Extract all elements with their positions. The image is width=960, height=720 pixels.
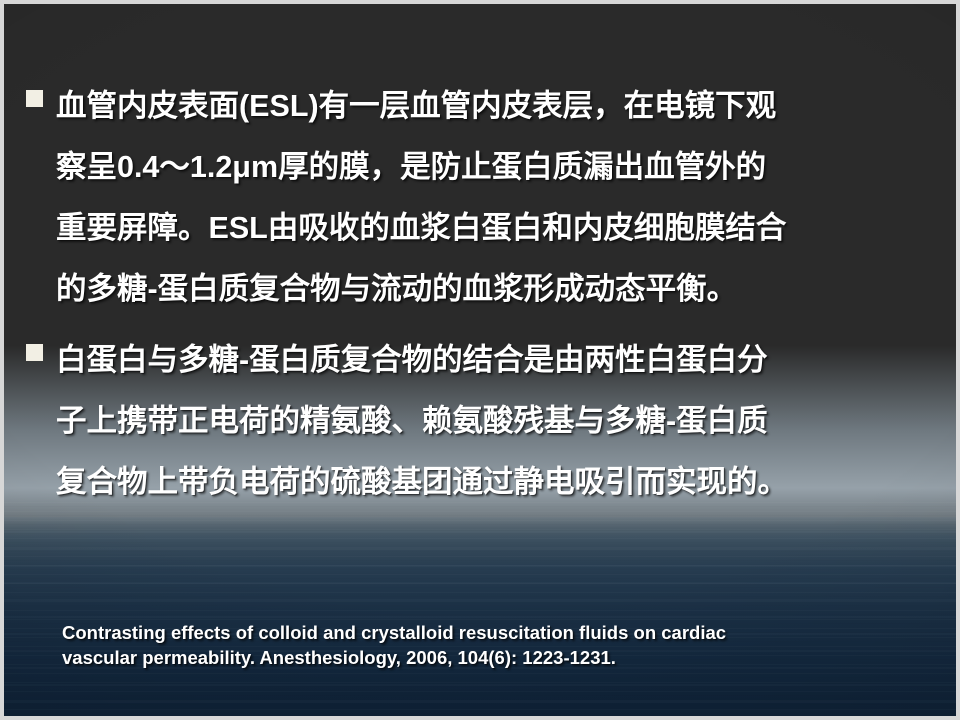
- bullet-item-2-text: 白蛋白与多糖-蛋白质复合物的结合是由两性白蛋白分 子上携带正电荷的精氨酸、赖氨酸…: [56, 330, 944, 513]
- bullet-2-line-3: 复合物上带负电荷的硫酸基团通过静电吸引而实现的。: [56, 452, 944, 513]
- bullet-2-line-2: 子上携带正电荷的精氨酸、赖氨酸残基与多糖-蛋白质: [56, 391, 944, 452]
- reference-caption-line-2: vascular permeability. Anesthesiology, 2…: [62, 645, 942, 670]
- square-bullet-icon: [26, 90, 43, 107]
- bullet-list: 血管内皮表面(ESL)有一层血管内皮表层，在电镜下观 察呈0.4～1.2μm厚的…: [26, 76, 944, 523]
- bullet-1-line-1: 血管内皮表面(ESL)有一层血管内皮表层，在电镜下观: [56, 76, 944, 137]
- bullet-item-1-text: 血管内皮表面(ESL)有一层血管内皮表层，在电镜下观 察呈0.4～1.2μm厚的…: [56, 76, 944, 320]
- square-bullet-icon: [26, 344, 43, 361]
- bullet-2-line-1: 白蛋白与多糖-蛋白质复合物的结合是由两性白蛋白分: [56, 330, 944, 391]
- bullet-1-line-4: 的多糖-蛋白质复合物与流动的血浆形成动态平衡。: [56, 259, 944, 320]
- bullet-item-2: 白蛋白与多糖-蛋白质复合物的结合是由两性白蛋白分 子上携带正电荷的精氨酸、赖氨酸…: [26, 330, 944, 513]
- bullet-1-line-3: 重要屏障。ESL由吸收的血浆白蛋白和内皮细胞膜结合: [56, 198, 944, 259]
- slide-content: 血管内皮表面(ESL)有一层血管内皮表层，在电镜下观 察呈0.4～1.2μm厚的…: [4, 4, 956, 716]
- bullet-item-1: 血管内皮表面(ESL)有一层血管内皮表层，在电镜下观 察呈0.4～1.2μm厚的…: [26, 76, 944, 320]
- reference-caption: Contrasting effects of colloid and cryst…: [62, 620, 942, 670]
- presentation-slide: 血管内皮表面(ESL)有一层血管内皮表层，在电镜下观 察呈0.4～1.2μm厚的…: [0, 0, 960, 720]
- bullet-1-line-2: 察呈0.4～1.2μm厚的膜，是防止蛋白质漏出血管外的: [56, 137, 944, 198]
- reference-caption-line-1: Contrasting effects of colloid and cryst…: [62, 620, 942, 645]
